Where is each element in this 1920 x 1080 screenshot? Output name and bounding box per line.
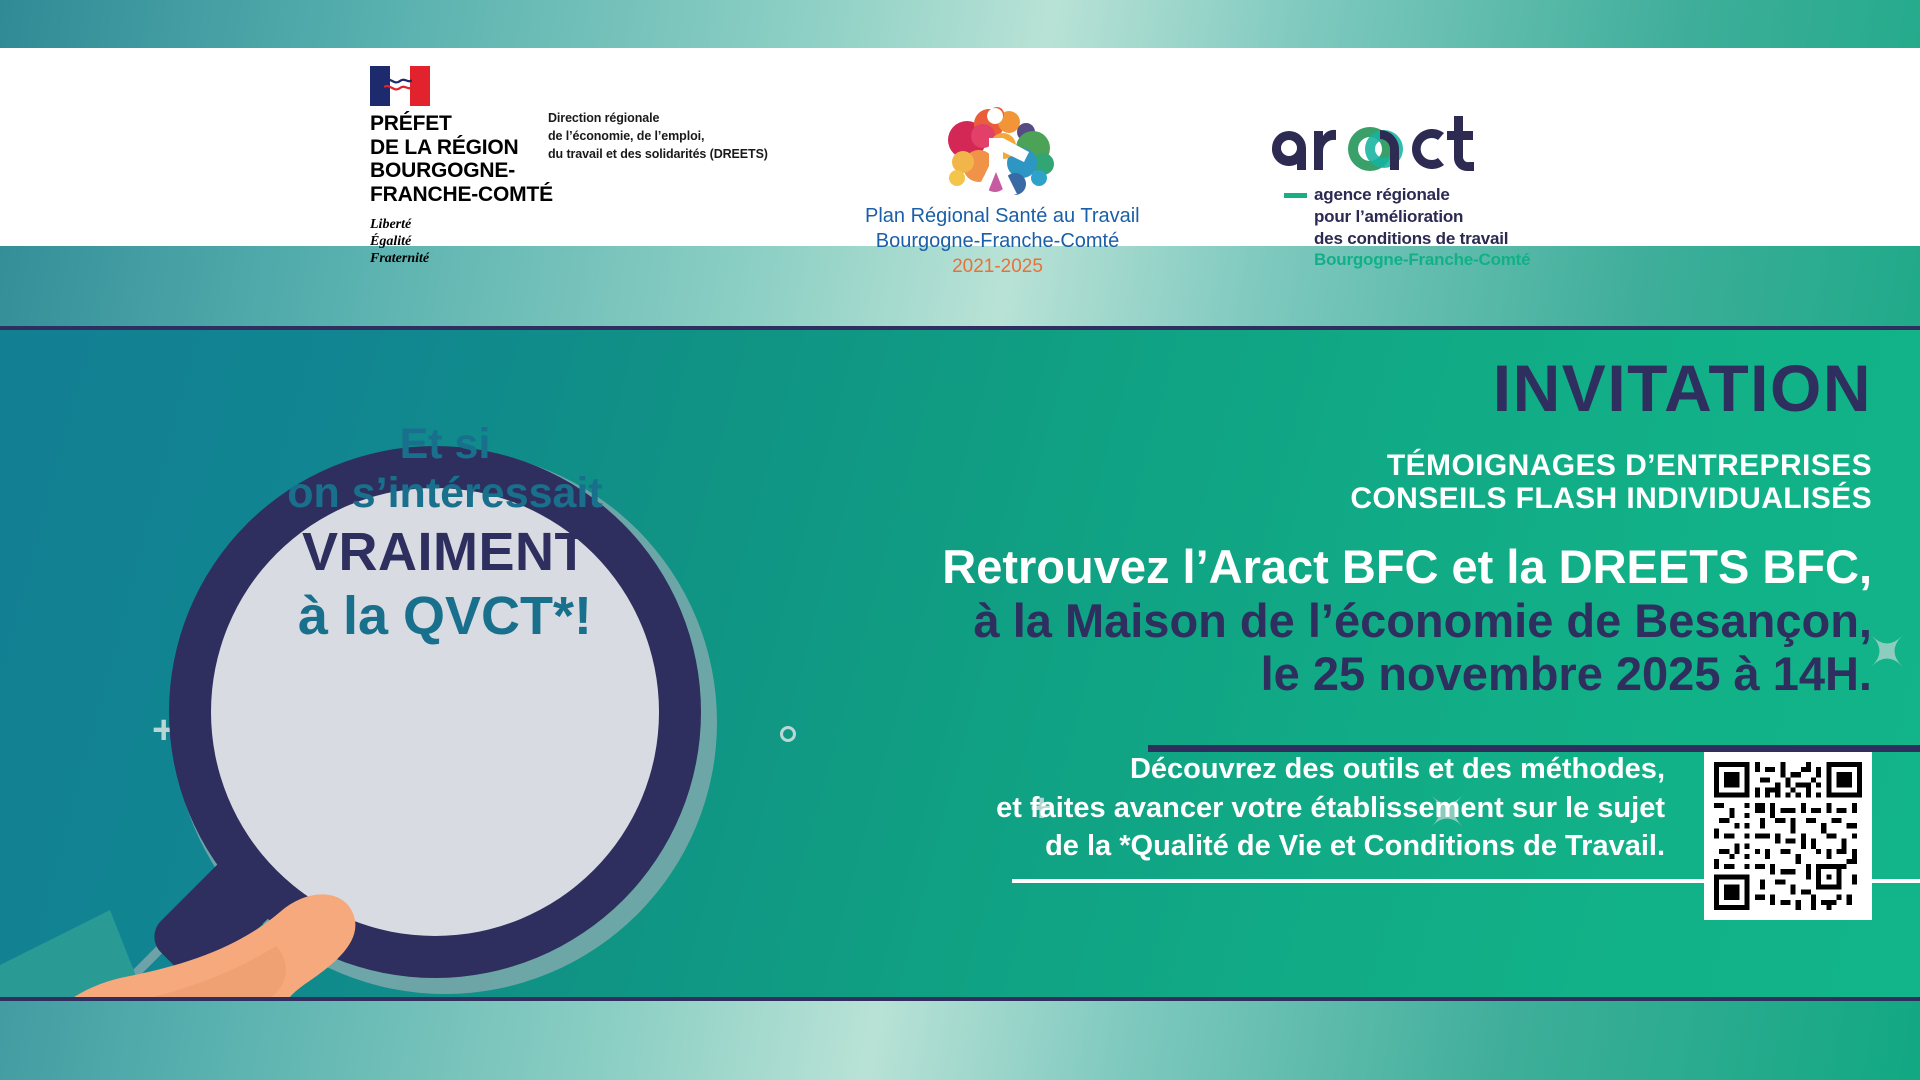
subtitle-block: TÉMOIGNAGES D’ENTREPRISES CONSEILS FLASH… xyxy=(1350,450,1872,515)
dreets-label: Direction régionale de l’économie, de l’… xyxy=(548,110,768,163)
event-line-2: à la Maison de l’économie de Besançon, xyxy=(942,594,1872,648)
french-flag-marianne-icon xyxy=(370,66,430,106)
description-line-2: et faites avancer votre établissement su… xyxy=(996,789,1665,828)
x-decoration-icon xyxy=(1868,632,1906,670)
marianne-wave-icon xyxy=(384,74,412,98)
lens-line-4: à la QVCT*! xyxy=(160,586,730,648)
motto-egalite: Égalité xyxy=(370,233,600,250)
invitation-card: + + + Et si xyxy=(0,326,1920,1001)
event-line-1: Retrouvez l’Aract BFC et la DREETS BFC, xyxy=(942,540,1872,594)
description-line-3: de la *Qualité de Vie et Conditions de T… xyxy=(996,827,1665,866)
event-line-3: le 25 novembre 2025 à 14H. xyxy=(942,647,1872,701)
dreets-line-2: de l’économie, de l’emploi, xyxy=(548,128,768,146)
prst-years: 2021-2025 xyxy=(865,256,1130,278)
lens-text: Et si on s’intéressait VRAIMENT à la QVC… xyxy=(160,420,730,647)
description-block: Découvrez des outils et des méthodes, et… xyxy=(996,750,1665,866)
qr-code-icon[interactable] xyxy=(1704,752,1872,920)
qr-code-matrix xyxy=(1714,762,1862,910)
aract-wordmark-icon xyxy=(1262,110,1494,172)
header-logo-band: PRÉFET DE LA RÉGION BOURGOGNE- FRANCHE-C… xyxy=(0,48,1920,246)
aract-sub-line-1: agence régionale xyxy=(1314,184,1562,206)
aract-logo: agence régionale pour l’amélioration des… xyxy=(1262,110,1562,271)
lens-line-1: Et si xyxy=(160,420,730,469)
subtitle-line-2: CONSEILS FLASH INDIVIDUALISÉS xyxy=(1350,483,1872,516)
prst-line-1: Plan Régional Santé au Travail xyxy=(865,204,1130,229)
prst-colorful-figure-icon xyxy=(923,106,1073,198)
prst-logo: Plan Régional Santé au Travail Bourgogne… xyxy=(865,106,1130,278)
motto-fraternite: Fraternité xyxy=(370,250,600,267)
motto-liberte: Liberté xyxy=(370,216,600,233)
lens-line-3: VRAIMENT xyxy=(160,522,730,584)
republic-motto: Liberté Égalité Fraternité xyxy=(370,216,600,267)
prefet-logo: PRÉFET DE LA RÉGION BOURGOGNE- FRANCHE-C… xyxy=(370,66,600,267)
aract-region: Bourgogne-Franche-Comté xyxy=(1314,249,1562,271)
subtitle-line-1: TÉMOIGNAGES D’ENTREPRISES xyxy=(1350,450,1872,483)
prefet-title-line-4: FRANCHE-COMTÉ xyxy=(370,183,600,207)
description-line-1: Découvrez des outils et des méthodes, xyxy=(996,750,1665,789)
prst-line-2: Bourgogne-Franche-Comté xyxy=(865,229,1130,254)
page-title: INVITATION xyxy=(1493,355,1872,421)
ring-decoration-icon xyxy=(780,726,796,742)
event-details: Retrouvez l’Aract BFC et la DREETS BFC, … xyxy=(942,540,1872,701)
lens-line-2: on s’intéressait xyxy=(160,469,730,518)
aract-subtitle: agence régionale pour l’amélioration des… xyxy=(1262,184,1562,271)
aract-dash-icon xyxy=(1284,193,1307,198)
aract-sub-line-2: pour l’amélioration xyxy=(1314,206,1562,228)
dreets-line-3: du travail et des solidarités (DREETS) xyxy=(548,146,768,164)
dreets-line-1: Direction régionale xyxy=(548,110,768,128)
aract-sub-line-3: des conditions de travail xyxy=(1314,228,1562,250)
